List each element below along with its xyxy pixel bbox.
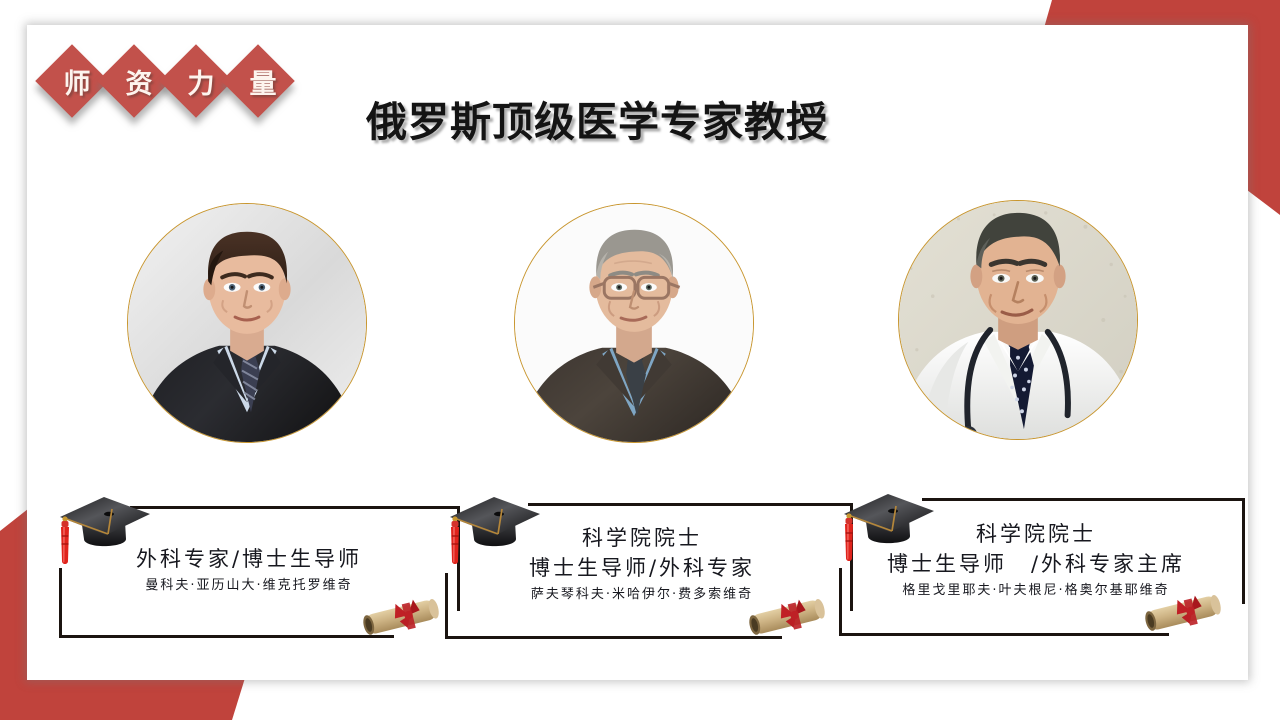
page-title: 俄罗斯顶级医学专家教授	[366, 88, 828, 148]
diploma-scroll-glyph	[1137, 587, 1229, 641]
avatar-photo-2	[514, 203, 754, 443]
avatar-photo-1	[127, 203, 367, 443]
section-label-char-3: 力	[170, 44, 232, 118]
graduation-cap-icon	[52, 487, 157, 579]
graduation-cap-icon	[836, 484, 941, 576]
frame-line-right-3	[1242, 498, 1245, 604]
decoration-ribbon-right-edge	[1247, 0, 1280, 215]
frame-line-bottom-2	[445, 636, 782, 639]
avatar-photo-3	[898, 200, 1138, 440]
diploma-scroll-glyph	[355, 591, 447, 645]
frame-line-top-1	[130, 506, 460, 509]
graduation-cap-glyph	[836, 484, 941, 576]
section-label-char-1: 师	[46, 44, 108, 118]
diploma-scroll-icon	[355, 591, 447, 645]
graduation-cap-glyph	[442, 487, 547, 579]
decoration-ribbon-bottom-left	[0, 678, 245, 720]
portrait-doctor-white-coat	[899, 201, 1137, 439]
person-card-2: 科学院院士 博士生导师/外科专家 萨夫琴科夫·米哈伊尔·费多索维奇	[438, 483, 838, 648]
diploma-scroll-icon	[741, 591, 833, 645]
frame-line-bottom-3	[839, 633, 1169, 636]
diploma-scroll-icon	[1137, 587, 1229, 641]
graduation-cap-icon	[442, 487, 547, 579]
portrait-elderly-academician	[515, 204, 753, 442]
section-label-char-4: 量	[232, 44, 294, 118]
section-label-char-2: 资	[108, 44, 170, 118]
diploma-scroll-glyph	[741, 591, 833, 645]
frame-line-top-2	[528, 503, 853, 506]
portrait-young-surgeon	[128, 204, 366, 442]
frame-line-top-3	[922, 498, 1245, 501]
person-card-1: 外科专家/博士生导师 曼科夫·亚历山大·维克托罗维奇	[45, 483, 445, 648]
frame-line-left-2	[445, 573, 448, 639]
person-card-3: 科学院院士 博士生导师 /外科专家主席 格里戈里耶夫·叶夫根尼·格奥尔基耶维奇	[832, 483, 1232, 648]
frame-line-left-3	[839, 568, 842, 636]
frame-line-bottom-1	[59, 635, 394, 638]
slide-canvas: 师 资 力 量 俄罗斯顶级医学专家教授	[0, 0, 1280, 720]
graduation-cap-glyph	[52, 487, 157, 579]
